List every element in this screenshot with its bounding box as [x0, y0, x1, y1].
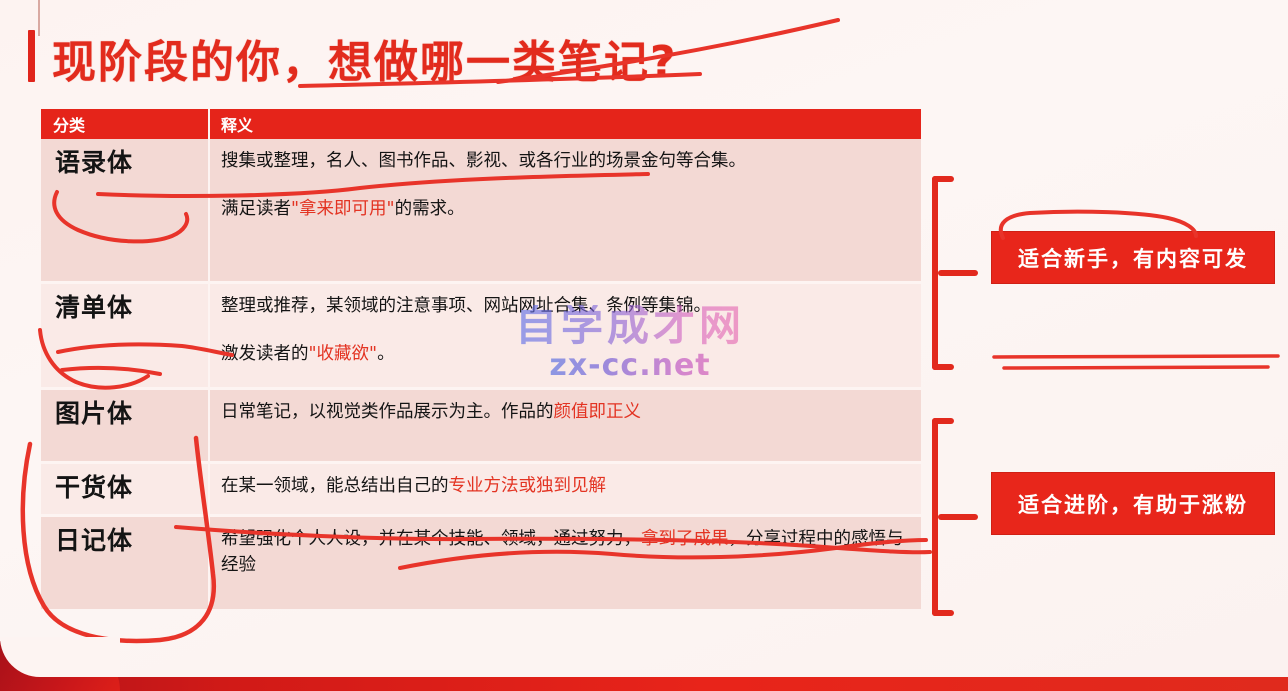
- row-definition-line: 搜集或整理，名人、图书作品、影视、或各行业的场景金句等合集。: [221, 148, 911, 174]
- row-category-label: 清单体: [55, 294, 133, 322]
- body-text: 整理或推荐，某领域的注意事项、网站网址合集、条例等集锦。: [221, 296, 711, 316]
- callout-beginner-label: 适合新手，有内容可发: [1018, 243, 1248, 273]
- row-definition-line: 日常笔记，以视觉类作品展示为主。作品的颜值即正义: [221, 399, 911, 425]
- header-cell-definition: 释义: [210, 112, 921, 136]
- row-category-cell: 日记体: [41, 517, 208, 609]
- highlight-text: 拿到了成果: [641, 529, 729, 549]
- row-definition-line: 在某一领域，能总结出自己的专业方法或独到见解: [221, 473, 911, 499]
- body-text: 。: [377, 344, 395, 364]
- row-category-label: 图片体: [55, 400, 133, 428]
- table-body: 语录体搜集或整理，名人、图书作品、影视、或各行业的场景金句等合集。满足读者"拿来…: [41, 139, 921, 609]
- highlight-text: 颜值即正义: [554, 402, 642, 422]
- ink-line-callout1-a: [994, 356, 1278, 357]
- body-text: 的需求。: [395, 199, 465, 219]
- brace-mid-tick: [938, 514, 978, 520]
- brace-mid-tick: [938, 270, 978, 276]
- row-category-label: 语录体: [55, 149, 133, 177]
- highlight-text: 专业方法或独到见解: [449, 476, 607, 496]
- brace-bottom-tick: [932, 610, 954, 616]
- row-definition-line: 整理或推荐，某领域的注意事项、网站网址合集、条例等集锦。: [221, 293, 911, 319]
- page-title: 现阶段的你，想做哪一类笔记?: [52, 26, 678, 90]
- table-row[interactable]: 干货体在某一领域，能总结出自己的专业方法或独到见解: [41, 464, 921, 514]
- header-label-category: 分类: [53, 116, 85, 135]
- table-header-row: 分类 释义: [41, 109, 921, 139]
- body-text: 日常笔记，以视觉类作品展示为主。作品的: [221, 402, 554, 422]
- table-row[interactable]: 清单体整理或推荐，某领域的注意事项、网站网址合集、条例等集锦。激发读者的"收藏欲…: [41, 284, 921, 387]
- row-category-cell: 干货体: [41, 464, 208, 514]
- callout-advanced-label: 适合进阶，有助于涨粉: [1018, 489, 1248, 519]
- row-definition-cell: 希望强化个人人设，并在某个技能、领域，通过努力，拿到了成果，分享过程中的感悟与经…: [210, 517, 921, 609]
- body-text: 满足读者: [221, 199, 291, 219]
- brace-top-tick: [932, 176, 954, 182]
- row-definition-cell: 在某一领域，能总结出自己的专业方法或独到见解: [210, 464, 921, 514]
- brace-top-tick: [932, 418, 954, 424]
- note-types-table: 分类 释义 语录体搜集或整理，名人、图书作品、影视、或各行业的场景金句等合集。满…: [41, 109, 921, 609]
- brace-beginner: [932, 176, 978, 370]
- body-text: 搜集或整理，名人、图书作品、影视、或各行业的场景金句等合集。: [221, 151, 746, 171]
- title-accent-bar: [28, 30, 35, 82]
- row-category-cell: 语录体: [41, 139, 208, 281]
- body-text: 激发读者的: [221, 344, 309, 364]
- footer-corner-mask: [0, 637, 120, 677]
- table-row[interactable]: 语录体搜集或整理，名人、图书作品、影视、或各行业的场景金句等合集。满足读者"拿来…: [41, 139, 921, 281]
- ink-line-callout1-b: [1004, 367, 1268, 368]
- row-category-cell: 清单体: [41, 284, 208, 387]
- row-definition-line: 满足读者"拿来即可用"的需求。: [221, 196, 911, 222]
- row-definition-line: 激发读者的"收藏欲"。: [221, 341, 911, 367]
- body-text: 在某一领域，能总结出自己的: [221, 476, 449, 496]
- row-definition-cell: 搜集或整理，名人、图书作品、影视、或各行业的场景金句等合集。满足读者"拿来即可用…: [210, 139, 921, 281]
- callout-beginner[interactable]: 适合新手，有内容可发: [991, 231, 1275, 284]
- table-row[interactable]: 图片体日常笔记，以视觉类作品展示为主。作品的颜值即正义: [41, 390, 921, 461]
- callout-advanced[interactable]: 适合进阶，有助于涨粉: [991, 472, 1275, 535]
- footer-bar: [0, 677, 1288, 691]
- header-cell-category: 分类: [41, 112, 208, 136]
- header-label-definition: 释义: [221, 116, 253, 135]
- slide-canvas: 现阶段的你，想做哪一类笔记? 分类 释义 语录体搜集或整理，名人、图书作品、影视…: [0, 0, 1288, 691]
- row-category-label: 干货体: [55, 474, 133, 502]
- brace-bottom-tick: [932, 364, 954, 370]
- row-category-cell: 图片体: [41, 390, 208, 461]
- body-text: 希望强化个人人设，并在某个技能、领域，通过努力，: [221, 529, 641, 549]
- highlight-text: "收藏欲": [309, 344, 378, 364]
- top-thin-rule: [38, 0, 40, 36]
- row-definition-line: 希望强化个人人设，并在某个技能、领域，通过努力，拿到了成果，分享过程中的感悟与经…: [221, 526, 911, 579]
- row-definition-cell: 整理或推荐，某领域的注意事项、网站网址合集、条例等集锦。激发读者的"收藏欲"。: [210, 284, 921, 387]
- row-category-label: 日记体: [55, 527, 133, 555]
- highlight-text: "拿来即可用": [291, 199, 395, 219]
- brace-advanced: [932, 418, 978, 616]
- table-row[interactable]: 日记体希望强化个人人设，并在某个技能、领域，通过努力，拿到了成果，分享过程中的感…: [41, 517, 921, 609]
- row-definition-cell: 日常笔记，以视觉类作品展示为主。作品的颜值即正义: [210, 390, 921, 461]
